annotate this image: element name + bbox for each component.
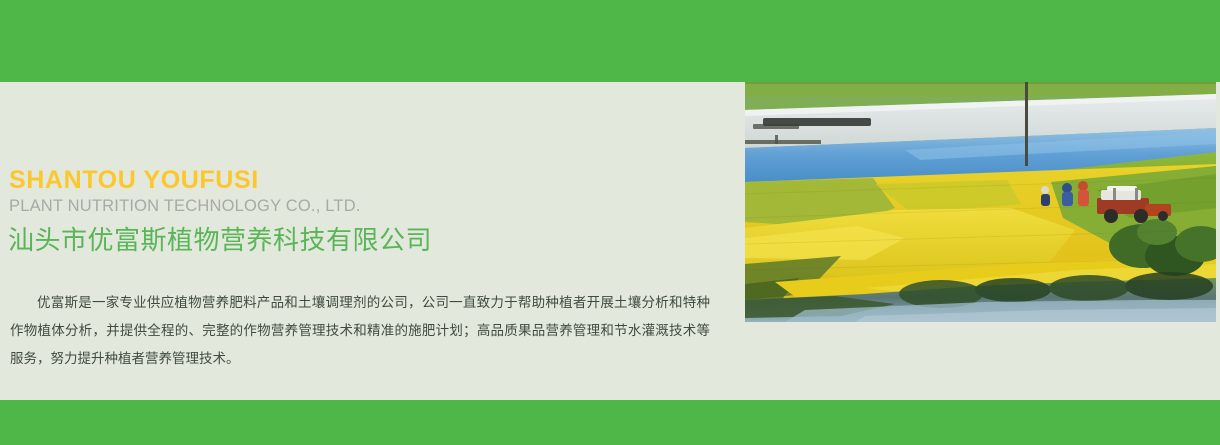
top-green-band [0,0,1220,82]
brand-name-english: SHANTOU YOUFUSI [9,166,259,195]
company-intro-paragraph: 优富斯是一家专业供应植物营养肥料产品和土壤调理剂的公司，公司一直致力于帮助种植者… [10,289,710,373]
page-root: SHANTOU YOUFUSI PLANT NUTRITION TECHNOLO… [0,0,1220,445]
brand-name-chinese: 汕头市优富斯植物营养科技有限公司 [8,220,432,257]
bottom-green-band [0,400,1220,445]
intro-text-column: SHANTOU YOUFUSI PLANT NUTRITION TECHNOLO… [0,82,730,400]
brand-subtitle-english: PLANT NUTRITION TECHNOLOGY CO., LTD. [9,197,361,216]
